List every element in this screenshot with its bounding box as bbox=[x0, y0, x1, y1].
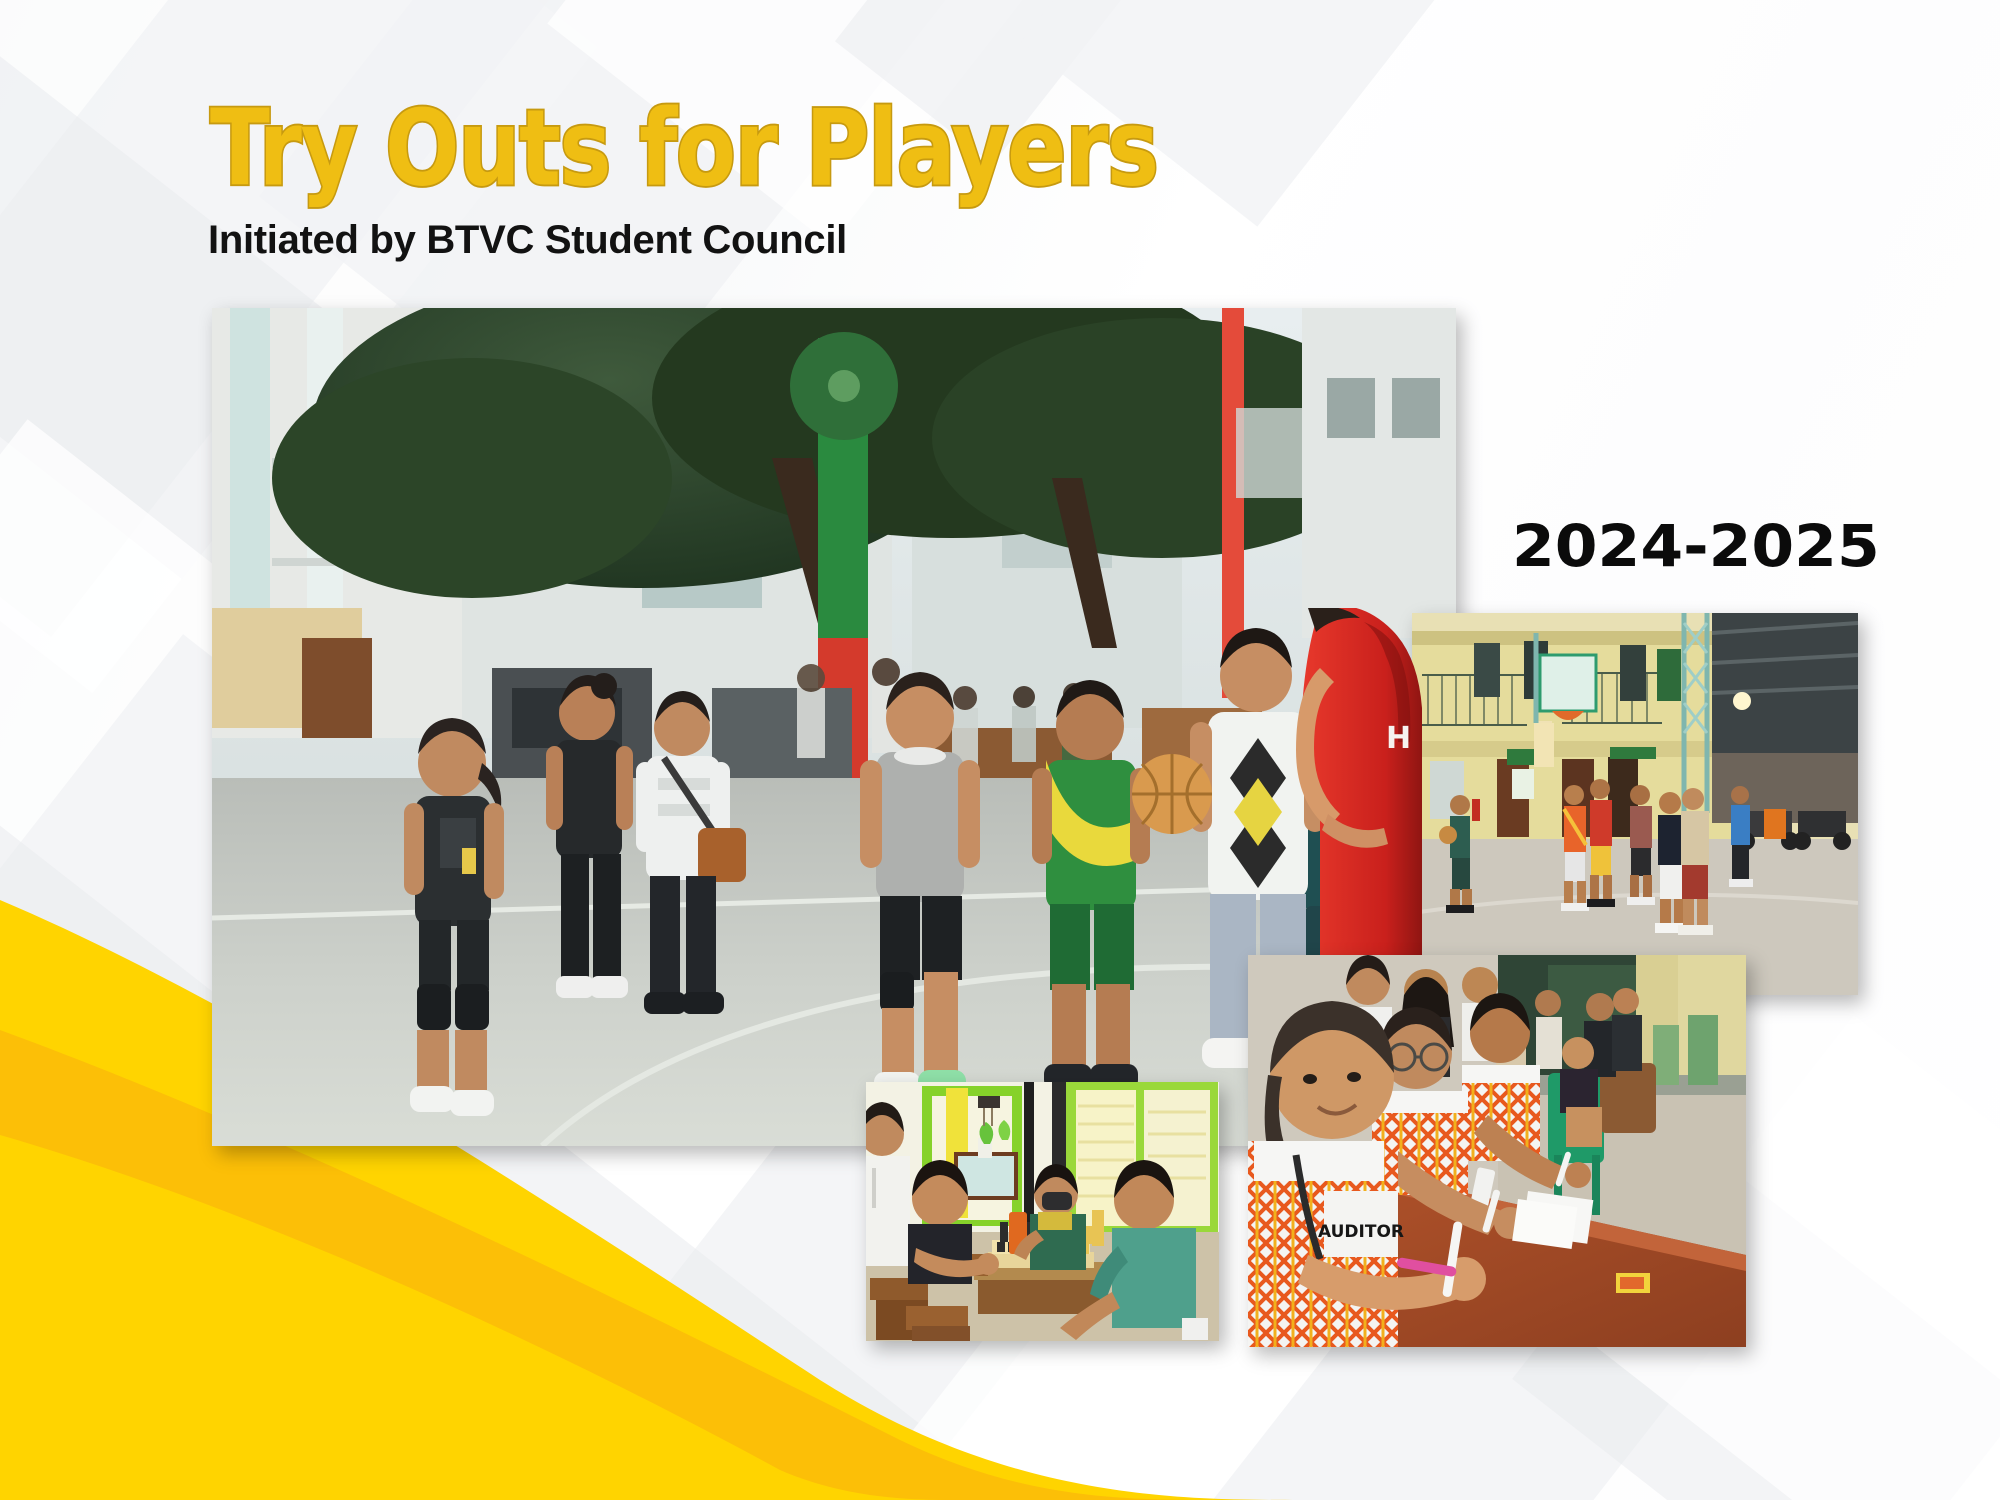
svg-text:AUDITOR: AUDITOR bbox=[1318, 1222, 1404, 1242]
slide-canvas: Try Outs for Players Initiated by BTVC S… bbox=[0, 0, 2000, 1500]
photo-chess-tryouts-classroom bbox=[866, 1082, 1219, 1341]
page-title: Try Outs for Players bbox=[210, 88, 1158, 210]
cutout-red-jersey-player: H bbox=[1290, 608, 1440, 978]
photo-covered-court-evening bbox=[1412, 613, 1858, 995]
page-subtitle: Initiated by BTVC Student Council bbox=[208, 218, 847, 263]
school-year-label: 2024-2025 bbox=[1512, 512, 1880, 580]
photo-student-council-judges: AUDITOR bbox=[1248, 955, 1746, 1347]
svg-text:H: H bbox=[1386, 721, 1411, 756]
